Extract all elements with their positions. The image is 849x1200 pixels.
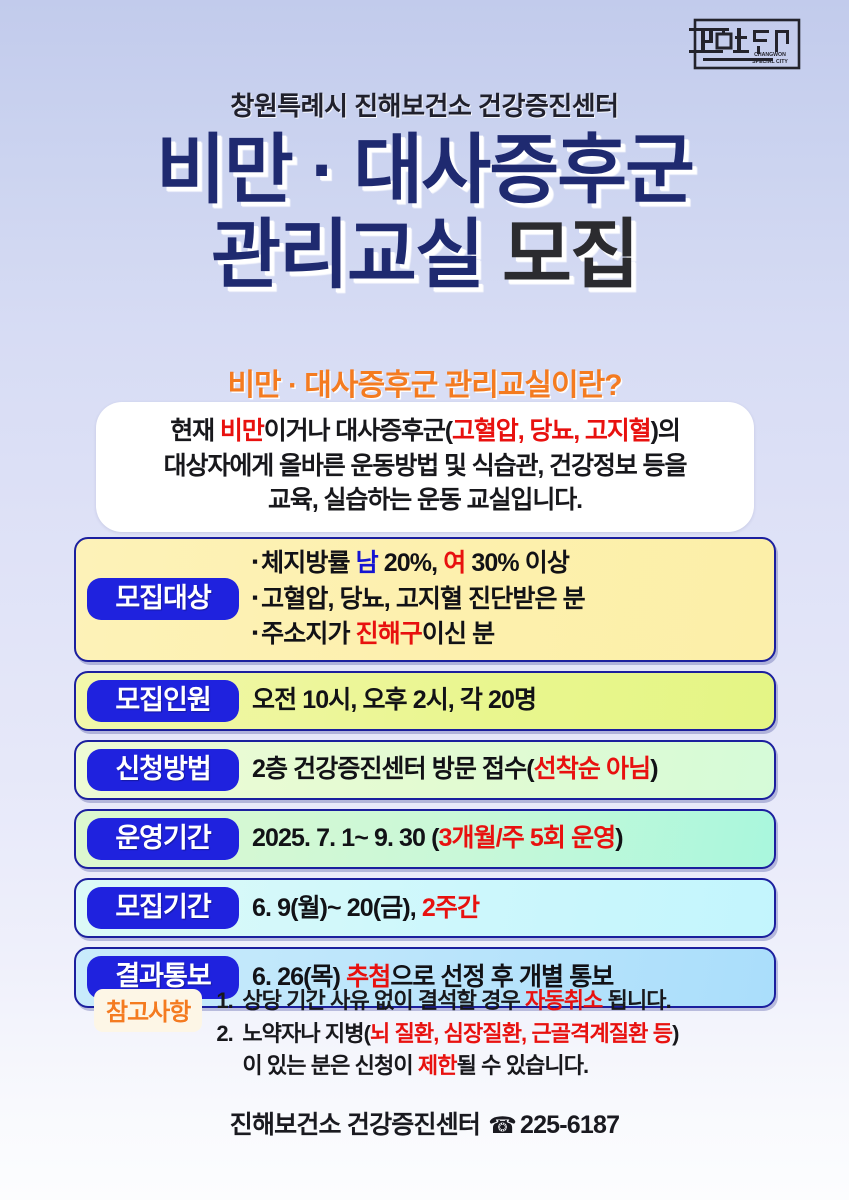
info-row-period: 운영기간 2025. 7. 1~ 9. 30 (3개월/주 5회 운영) (74, 809, 776, 869)
text-segment: 2층 건강증진센터 방문 접수( (252, 755, 534, 783)
text-segment: ) (650, 755, 657, 783)
info-row-target: 모집대상 ▪체지방률 남 20%, 여 30% 이상▪고혈압, 당뇨, 고지혈 … (74, 537, 776, 662)
row-badge-target: 모집대상 (87, 578, 239, 620)
text-segment: ) (615, 824, 622, 852)
intro-heading: 비만 · 대사증후군 관리교실이란? (0, 360, 849, 404)
row-body-period: 2025. 7. 1~ 9. 30 (3개월/주 5회 운영) (239, 821, 764, 857)
row-badge-capacity: 모집인원 (87, 680, 239, 722)
bullet-item: ▪주소지가 진해구이신 분 (252, 617, 764, 653)
notes-label: 참고사항 (94, 989, 202, 1032)
organization-line: 창원특례시 진해보건소 건강증진센터 (0, 86, 849, 123)
note-text: 이 있는 분은 신청이 제한될 수 있습니다. (242, 1050, 784, 1083)
note-item: 이 있는 분은 신청이 제한될 수 있습니다. (216, 1050, 784, 1083)
text-segment: 제한 (418, 1053, 457, 1078)
title-line-2: 관리교실 모집 (0, 213, 849, 298)
square-bullet-icon: ▪ (252, 621, 257, 645)
text-segment: 될 수 있습니다. (457, 1053, 589, 1078)
info-row-apply: 신청방법 2층 건강증진센터 방문 접수(선착순 아님) (74, 740, 776, 800)
note-number: 1. (216, 985, 242, 1018)
notes-section: 참고사항 1.상당 기간 사유 없이 결석할 경우 자동취소 됩니다.2.노약자… (94, 985, 784, 1083)
intro-l1-c: )의 (651, 417, 680, 445)
note-text: 상당 기간 사유 없이 결석할 경우 자동취소 됩니다. (242, 985, 784, 1018)
note-text: 노약자나 지병(뇌 질환, 심장질환, 근골격계질환 등) (242, 1018, 784, 1051)
intro-l1-b: 이거나 대사증후군( (264, 417, 452, 445)
note-number: 2. (216, 1018, 242, 1051)
text-segment: 2주간 (422, 894, 479, 922)
intro-line-1: 현재 비만이거나 대사증후군(고혈압, 당뇨, 고지혈)의 (114, 414, 736, 449)
bullet-item: ▪체지방률 남 20%, 여 30% 이상 (252, 546, 764, 582)
text-segment: 3개월/주 5회 운영 (439, 824, 616, 852)
row-body-apply: 2층 건강증진센터 방문 접수(선착순 아님) (239, 752, 764, 788)
text-segment: ) (672, 1021, 678, 1046)
text-segment: 이신 분 (422, 620, 494, 648)
text-segment: 자동취소 (525, 988, 602, 1013)
bullet-item: ▪고혈압, 당뇨, 고지혈 진단받은 분 (252, 582, 764, 618)
intro-l1-red1: 비만 (220, 417, 264, 445)
title-line-2-accent: 모집 (502, 213, 638, 298)
row-badge-recruit-period: 모집기간 (87, 887, 239, 929)
text-segment: 여 (443, 549, 465, 577)
text-segment: 남 (356, 549, 378, 577)
info-row-capacity: 모집인원 오전 10시, 오후 2시, 각 20명 (74, 671, 776, 731)
row-badge-apply: 신청방법 (87, 749, 239, 791)
text-segment: 30% 이상 (465, 549, 569, 577)
title-line-1: 비만 · 대사증후군 (0, 128, 849, 213)
text-segment: 6. 9(월)~ 20(금), (252, 894, 422, 922)
square-bullet-icon: ▪ (252, 550, 257, 574)
row-badge-period: 운영기간 (87, 818, 239, 860)
text-segment: 2025. 7. 1~ 9. 30 ( (252, 824, 439, 852)
text-segment: 이 있는 분은 신청이 (242, 1053, 418, 1078)
svg-text:SPECIAL CITY: SPECIAL CITY (752, 59, 788, 65)
row-body-capacity: 오전 10시, 오후 2시, 각 20명 (239, 683, 764, 719)
text-segment: 오전 10시, 오후 2시, 각 20명 (252, 686, 536, 714)
svg-text:CHANGWON: CHANGWON (754, 52, 786, 58)
row-body-target: ▪체지방률 남 20%, 여 30% 이상▪고혈압, 당뇨, 고지혈 진단받은 … (239, 546, 764, 653)
title-line-2-main: 관리교실 (211, 213, 483, 298)
text-segment: 됩니다. (602, 988, 670, 1013)
row-text: 2025. 7. 1~ 9. 30 (3개월/주 5회 운영) (252, 821, 764, 857)
square-bullet-icon: ▪ (252, 586, 257, 610)
info-rows: 모집대상 ▪체지방률 남 20%, 여 30% 이상▪고혈압, 당뇨, 고지혈 … (74, 537, 776, 1017)
footer-office: 진해보건소 건강증진센터 (230, 1111, 480, 1139)
text-segment: 고혈압, 당뇨, 고지혈 진단받은 분 (261, 585, 585, 613)
text-segment: 선착순 아님 (534, 755, 651, 783)
text-segment: 상당 기간 사유 없이 결석할 경우 (242, 988, 525, 1013)
footer-contact: 진해보건소 건강증진센터☎225-6187 (0, 1105, 849, 1141)
changwon-city-logo: CHANGWON SPECIAL CITY (687, 16, 807, 78)
text-segment: 진해구 (356, 620, 422, 648)
row-text: 2층 건강증진센터 방문 접수(선착순 아님) (252, 752, 764, 788)
text-segment: 노약자나 지병( (242, 1021, 370, 1046)
text-segment: 20%, (378, 549, 443, 577)
row-body-recruit-period: 6. 9(월)~ 20(금), 2주간 (239, 891, 764, 927)
info-row-recruit-period: 모집기간 6. 9(월)~ 20(금), 2주간 (74, 878, 776, 938)
text-segment: 주소지가 (261, 620, 355, 648)
text-segment: 뇌 질환, 심장질환, 근골격계질환 등 (370, 1021, 672, 1046)
text-segment: 체지방률 (261, 549, 355, 577)
intro-line-2: 대상자에게 올바른 운동방법 및 식습관, 건강정보 등을 (114, 449, 736, 484)
note-item: 2.노약자나 지병(뇌 질환, 심장질환, 근골격계질환 등) (216, 1018, 784, 1051)
intro-description-box: 현재 비만이거나 대사증후군(고혈압, 당뇨, 고지혈)의 대상자에게 올바른 … (96, 402, 754, 532)
intro-l1-a: 현재 (170, 417, 220, 445)
row-text: 6. 9(월)~ 20(금), 2주간 (252, 891, 764, 927)
row-text: 오전 10시, 오후 2시, 각 20명 (252, 683, 764, 719)
poster-title: 비만 · 대사증후군 관리교실 모집 (0, 128, 849, 298)
intro-l1-red2: 고혈압, 당뇨, 고지혈 (452, 417, 651, 445)
intro-line-3: 교육, 실습하는 운동 교실입니다. (114, 483, 736, 518)
notes-list: 1.상당 기간 사유 없이 결석할 경우 자동취소 됩니다.2.노약자나 지병(… (202, 985, 784, 1083)
telephone-icon: ☎ (488, 1112, 516, 1138)
footer-phone: 225-6187 (520, 1111, 619, 1139)
note-item: 1.상당 기간 사유 없이 결석할 경우 자동취소 됩니다. (216, 985, 784, 1018)
